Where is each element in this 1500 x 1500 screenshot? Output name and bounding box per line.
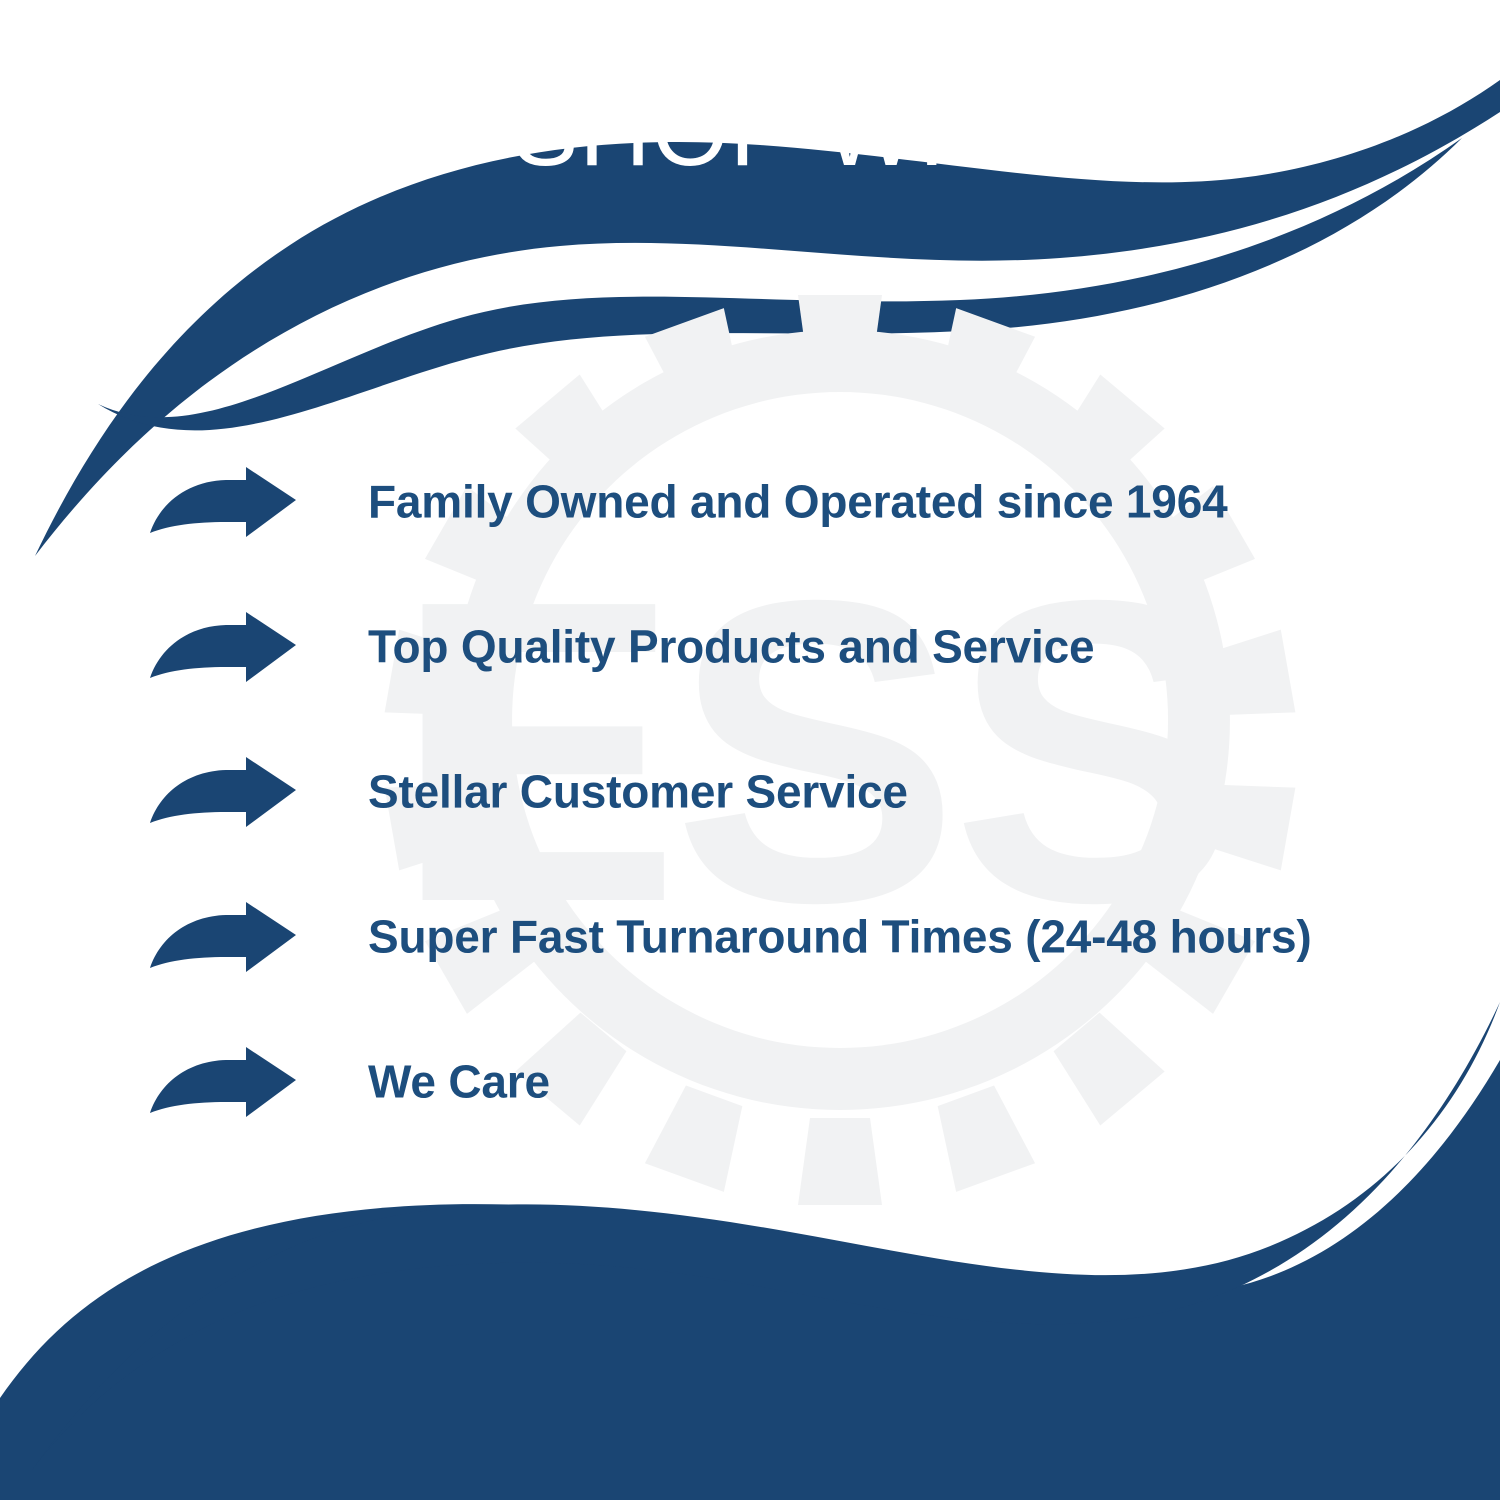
why-shop-with-us-poster: ESS WHY SHOP WITH US Family Owned and Op… [0,0,1500,1500]
list-item: Top Quality Products and Service [0,575,1500,720]
list-item: Family Owned and Operated since 1964 [0,430,1500,575]
curved-arrow-right-icon [148,467,298,539]
curved-arrow-right-icon [148,902,298,974]
list-item: Super Fast Turnaround Times (24-48 hours… [0,865,1500,1010]
curved-arrow-right-icon [148,612,298,684]
list-item: We Care [0,1010,1500,1155]
list-item: Stellar Customer Service [0,720,1500,865]
benefit-label: Super Fast Turnaround Times (24-48 hours… [368,911,1312,962]
curved-arrow-right-icon [148,1047,298,1119]
benefit-label: We Care [368,1056,550,1107]
page-title: WHY SHOP WITH US [0,66,1500,194]
benefit-label: Family Owned and Operated since 1964 [368,476,1227,527]
benefit-label: Stellar Customer Service [368,766,908,817]
benefit-label: Top Quality Products and Service [368,621,1094,672]
curved-arrow-right-icon [148,757,298,829]
benefits-list: Family Owned and Operated since 1964 Top… [0,430,1500,1155]
